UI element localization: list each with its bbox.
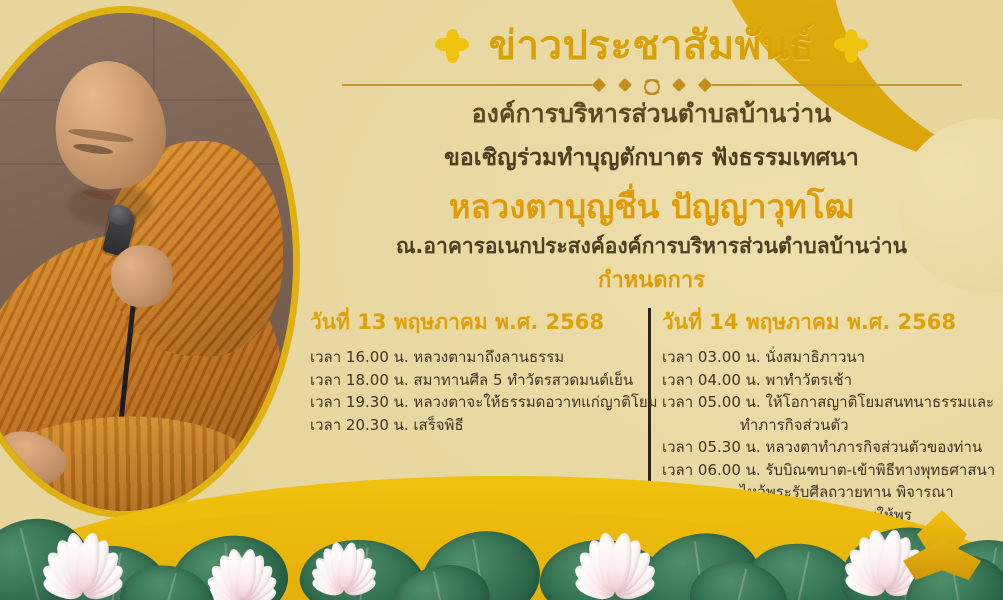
organization-name: องค์การบริหารส่วนตำบลบ้านว่าน [300, 94, 1003, 134]
schedule-column-day1: วันที่ 13 พฤษภาคม พ.ศ. 2568 เวลา 16.00 น… [310, 306, 642, 436]
list-item: เวลา 16.00 น. หลวงตามาถึงลานธรรม [310, 346, 642, 369]
day1-heading: วันที่ 13 พฤษภาคม พ.ศ. 2568 [310, 306, 642, 339]
list-item: เวลา 05.30 น. หลวงตาทำภารกิจส่วนตัวของท่… [662, 436, 1000, 459]
list-item: เวลา 18.00 น. สมาทานศีล 5 ทำวัตรสวดมนต์เ… [310, 369, 642, 392]
list-item: เวลา 03.00 น. นั่งสมาธิภาวนา [662, 346, 1000, 369]
quatrefoil-right-icon [836, 31, 866, 61]
list-item: เวลา 20.30 น. เสร็จพิธี [310, 414, 642, 437]
page-title: ข่าวประชาสัมพันธ์ [489, 24, 815, 68]
monk-photo [0, 6, 300, 518]
day2-heading: วันที่ 14 พฤษภาคม พ.ศ. 2568 [662, 306, 1000, 339]
lotus-flower [202, 535, 283, 599]
monk-photo-image [0, 13, 293, 511]
invitation-line: ขอเชิญร่วมทำบุญตักบาตร ฟังธรรมเทศนา [300, 140, 1003, 176]
lotus-flower [28, 505, 138, 591]
lotus-flower [560, 505, 670, 591]
poster-canvas: ข่าวประชาสัมพันธ์ องค์การบริหารส่วนตำบลบ… [0, 0, 1003, 600]
title-row: ข่าวประชาสัมพันธ์ [300, 24, 1003, 68]
monk-name: หลวงตาบุญชื่น ปัญญาวุทโฒ [300, 180, 1003, 233]
agenda-heading: กำหนดการ [300, 262, 1003, 297]
list-item: เวลา 04.00 น. พาทำวัตรเช้า [662, 369, 1000, 392]
thai-gold-ornament-icon [899, 510, 985, 586]
day1-list: เวลา 16.00 น. หลวงตามาถึงลานธรรม เวลา 18… [310, 346, 642, 436]
venue-line: ณ.อาคารอเนกประสงค์องค์การบริหารส่วนตำบลบ… [300, 230, 1003, 263]
list-item-cont: ทำภารกิจส่วนตัว [662, 414, 1000, 437]
ornamental-divider [342, 78, 962, 92]
quatrefoil-left-icon [437, 31, 467, 61]
list-item: เวลา 19.30 น. หลวงตาจะให้ธรรมดอวาทแก่ญาต… [310, 391, 642, 414]
list-item: เวลา 05.00 น. ให้โอกาสญาติโยมสนทนาธรรมแล… [662, 391, 1000, 414]
lotus-flower [309, 534, 379, 589]
list-item: เวลา 06.00 น. รับบิณฑบาต-เข้าพิธีทางพุทธ… [662, 459, 1000, 482]
